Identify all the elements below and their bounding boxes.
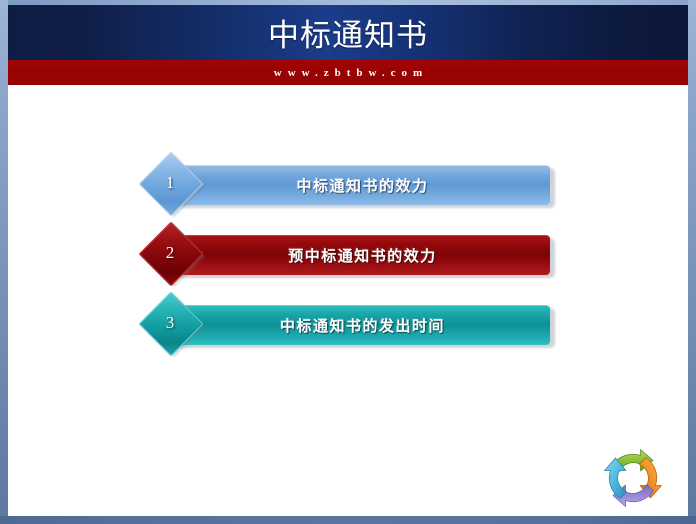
banner-bar: 中标通知书的发出时间 — [175, 305, 550, 345]
frame-right-border — [688, 0, 696, 524]
diamond-number: 1 — [148, 161, 192, 205]
banner-bar: 预中标通知书的效力 — [175, 235, 550, 275]
website-url: www.zbtbw.com — [8, 60, 688, 85]
page-title: 中标通知书 — [8, 5, 688, 60]
banner-label: 中标通知书的效力 — [175, 166, 550, 205]
agenda-item-2[interactable]: 预中标通知书的效力 2 — [145, 230, 555, 286]
website-bar: www.zbtbw.com — [8, 60, 688, 85]
diamond-number: 3 — [148, 301, 192, 345]
frame-left-border — [0, 0, 8, 524]
diamond-number: 2 — [148, 231, 192, 275]
slide-header: 中标通知书 — [8, 5, 688, 60]
banner-label: 预中标通知书的效力 — [175, 236, 550, 275]
banner-bar: 中标通知书的效力 — [175, 165, 550, 205]
agenda-item-1[interactable]: 中标通知书的效力 1 — [145, 160, 555, 216]
slide: 中标通知书 www.zbtbw.com 中标通知书的效力 1 预中标通知书的效力… — [0, 0, 696, 524]
recycle-cycle-logo-icon — [598, 443, 668, 513]
agenda-item-3[interactable]: 中标通知书的发出时间 3 — [145, 300, 555, 356]
frame-bottom-border — [0, 516, 696, 524]
banner-label: 中标通知书的发出时间 — [175, 306, 550, 345]
